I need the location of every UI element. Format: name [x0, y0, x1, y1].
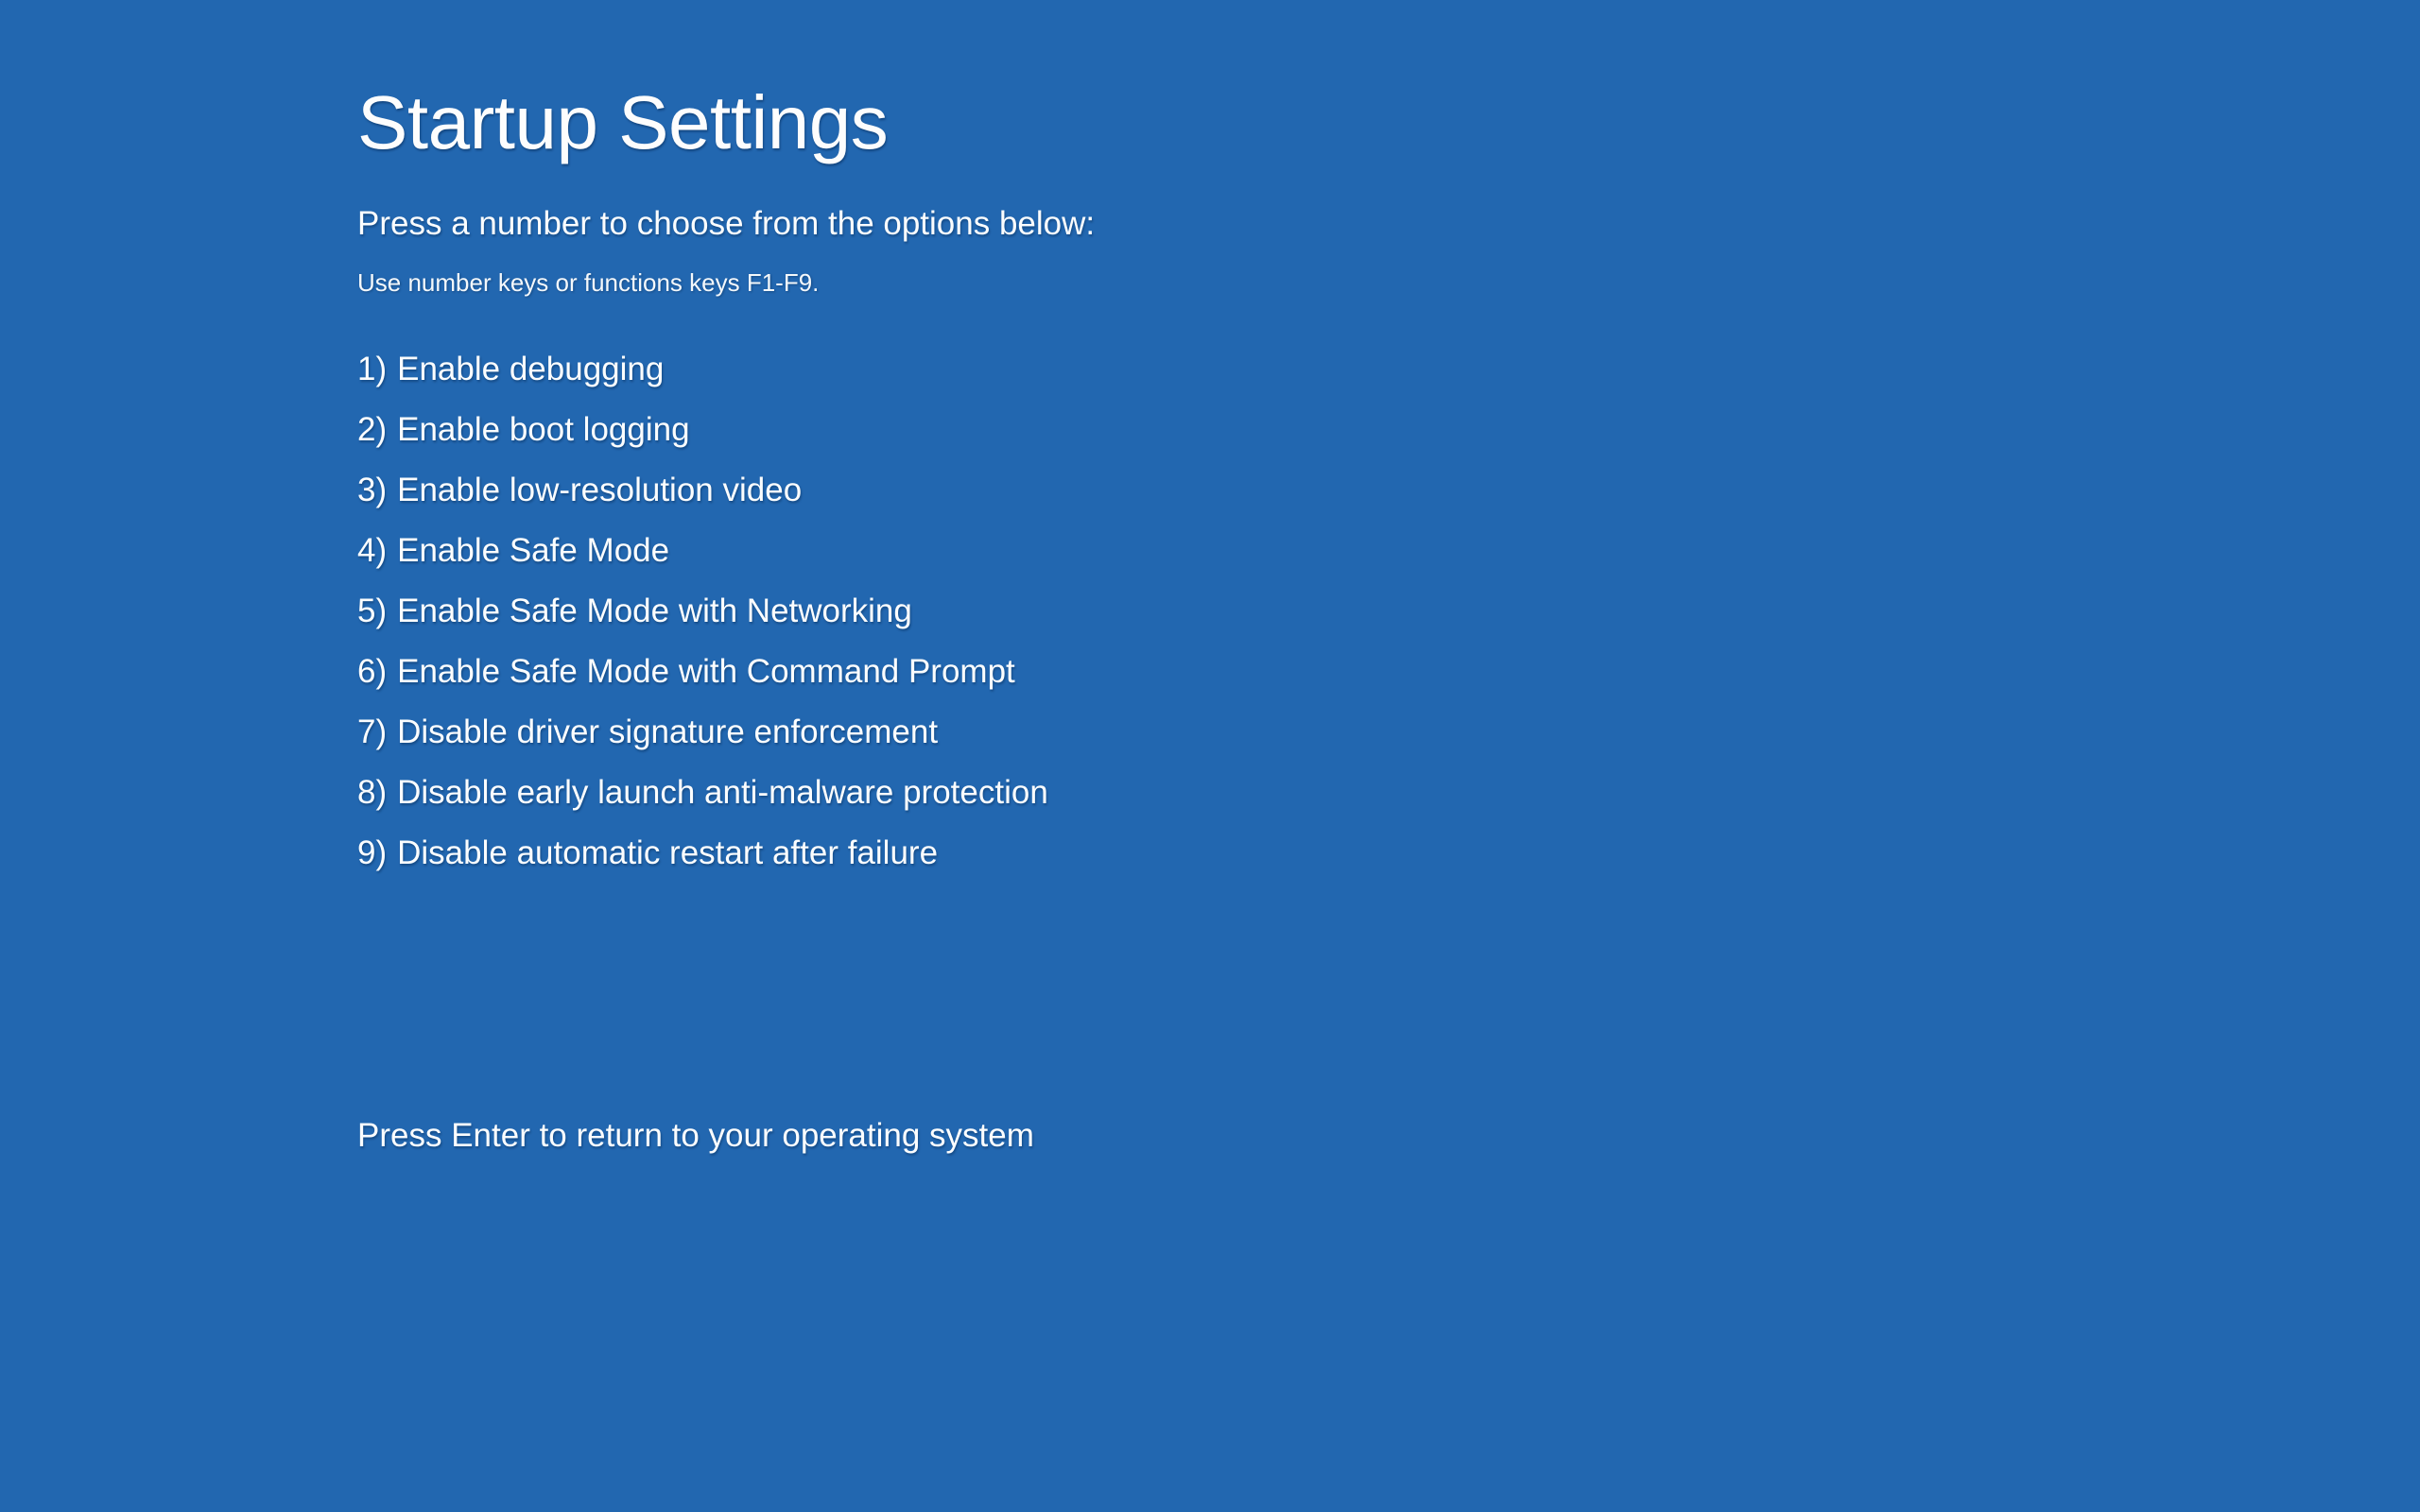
option-6[interactable]: 6)Enable Safe Mode with Command Prompt	[357, 655, 2342, 692]
option-1[interactable]: 1)Enable debugging	[357, 352, 2342, 389]
option-label: Enable low-resolution video	[387, 472, 802, 508]
option-4[interactable]: 4)Enable Safe Mode	[357, 534, 2342, 571]
option-label: Enable Safe Mode with Networking	[387, 593, 912, 629]
startup-settings-screen: Startup Settings Press a number to choos…	[0, 0, 2420, 1512]
prompt-instruction: Press a number to choose from the option…	[357, 161, 2342, 243]
option-label: Disable early launch anti-malware protec…	[387, 774, 1048, 811]
option-label: Enable Safe Mode with Command Prompt	[387, 653, 1015, 690]
option-5[interactable]: 5)Enable Safe Mode with Networking	[357, 594, 2342, 631]
option-number: 5)	[357, 593, 387, 629]
option-number: 1)	[357, 351, 387, 387]
option-9[interactable]: 9)Disable automatic restart after failur…	[357, 836, 2342, 873]
option-number: 6)	[357, 653, 387, 690]
startup-options-list: 1)Enable debugging 2)Enable boot logging…	[357, 298, 2342, 873]
option-label: Disable automatic restart after failure	[387, 834, 938, 871]
content-column: Startup Settings Press a number to choos…	[357, 0, 2342, 1155]
option-label: Enable boot logging	[387, 411, 689, 448]
option-label: Disable driver signature enforcement	[387, 713, 938, 750]
page-title: Startup Settings	[357, 0, 2342, 161]
option-number: 4)	[357, 532, 387, 569]
option-2[interactable]: 2)Enable boot logging	[357, 413, 2342, 450]
option-number: 3)	[357, 472, 387, 508]
option-label: Enable debugging	[387, 351, 664, 387]
keyboard-hint: Use number keys or functions keys F1-F9.	[357, 243, 2342, 298]
option-number: 7)	[357, 713, 387, 750]
option-number: 8)	[357, 774, 387, 811]
return-instruction: Press Enter to return to your operating …	[357, 873, 2342, 1155]
option-number: 9)	[357, 834, 387, 871]
option-number: 2)	[357, 411, 387, 448]
option-label: Enable Safe Mode	[387, 532, 669, 569]
option-3[interactable]: 3)Enable low-resolution video	[357, 473, 2342, 510]
option-8[interactable]: 8)Disable early launch anti-malware prot…	[357, 776, 2342, 813]
option-7[interactable]: 7)Disable driver signature enforcement	[357, 715, 2342, 752]
